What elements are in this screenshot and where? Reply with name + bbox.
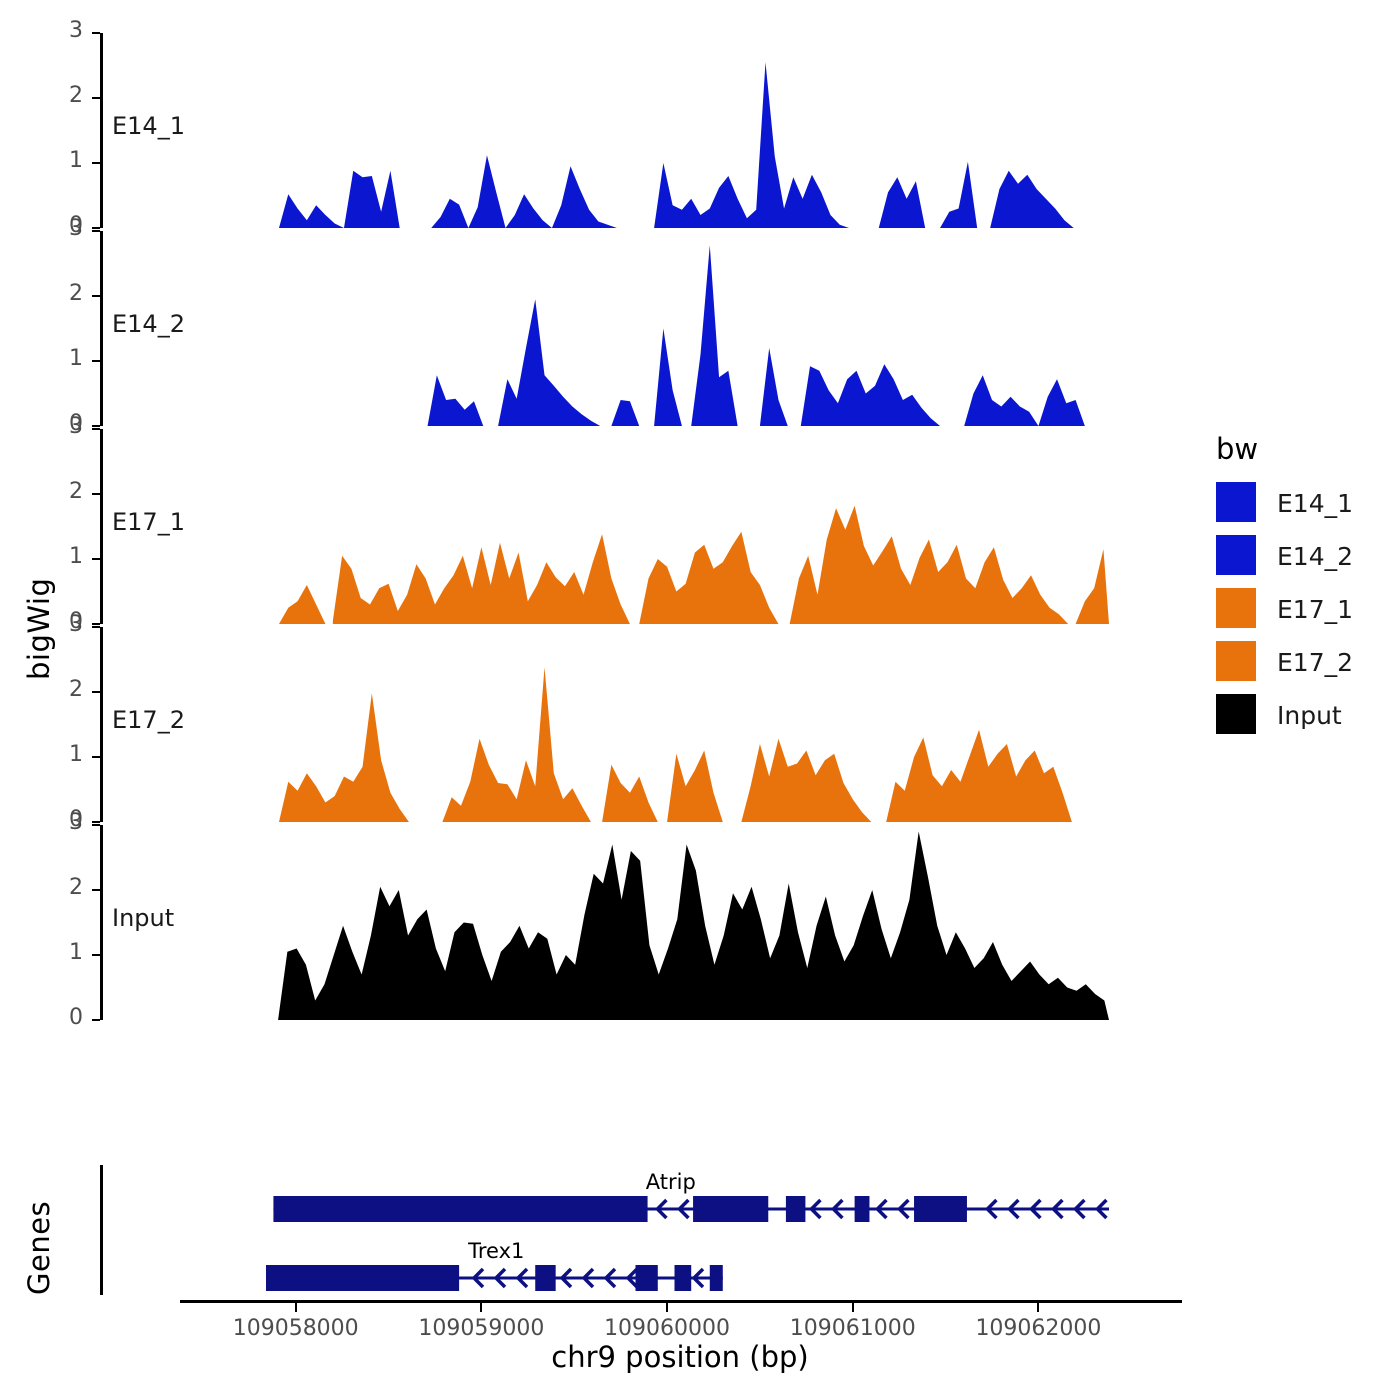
legend-swatch-e14_1[interactable]	[1216, 482, 1256, 522]
y-tick-label: 2	[35, 677, 83, 702]
track-label-e14_1: E14_1	[112, 112, 185, 140]
y-tick-mark	[92, 227, 100, 229]
y-tick-mark	[92, 889, 100, 891]
gene-exon	[693, 1196, 768, 1222]
genes-axis-title: Genes	[22, 1165, 56, 1295]
gene-exon	[855, 1196, 870, 1222]
signal-area	[611, 400, 639, 426]
y-tick-mark	[92, 162, 100, 164]
legend-swatch-e14_2[interactable]	[1216, 535, 1256, 575]
y-tick-mark	[92, 824, 100, 826]
signal-track-e14_1	[240, 33, 1122, 228]
y-axis-line-e17_2	[100, 627, 103, 822]
signal-track-e17_1	[240, 429, 1122, 624]
signal-area	[790, 506, 1069, 624]
track-label-e17_1: E17_1	[112, 508, 185, 536]
y-tick-label: 1	[35, 742, 83, 767]
y-tick-mark	[92, 623, 100, 625]
y-axis-line-input	[100, 825, 103, 1020]
y-tick-mark	[92, 360, 100, 362]
gene-exon	[710, 1265, 723, 1291]
gene-name-label: Trex1	[467, 1239, 524, 1263]
y-tick-label: 2	[35, 83, 83, 108]
track-label-e17_2: E17_2	[112, 706, 185, 734]
y-tick-mark	[92, 558, 100, 560]
gene-exon	[786, 1196, 805, 1222]
signal-area	[279, 585, 325, 624]
x-axis-title: chr9 position (bp)	[240, 1340, 1120, 1374]
signal-area	[667, 751, 723, 823]
y-tick-mark	[92, 626, 100, 628]
signal-track-e17_2	[240, 627, 1122, 822]
signal-area	[741, 739, 871, 822]
signal-area	[279, 693, 409, 822]
signal-area	[279, 171, 400, 228]
y-tick-mark	[92, 691, 100, 693]
y-tick-label: 2	[35, 281, 83, 306]
legend-label-e17_2: E17_2	[1277, 648, 1353, 677]
gene-models: AtripTrex1	[240, 1165, 1142, 1305]
gene-exon	[636, 1265, 658, 1291]
legend-label-e14_2: E14_2	[1277, 542, 1353, 571]
y-tick-mark	[92, 295, 100, 297]
y-tick-label: 3	[35, 612, 83, 637]
signal-area	[333, 534, 630, 624]
y-tick-label: 0	[35, 1005, 83, 1030]
y-tick-mark	[92, 756, 100, 758]
x-axis-line	[180, 1300, 1182, 1303]
genes-axis-line	[100, 1165, 103, 1295]
signal-track-input	[240, 825, 1122, 1020]
signal-area	[801, 364, 940, 426]
y-tick-label: 1	[35, 346, 83, 371]
y-tick-mark	[92, 821, 100, 823]
signal-area	[879, 177, 925, 228]
signal-area	[602, 765, 658, 822]
y-tick-mark	[92, 32, 100, 34]
signal-area	[442, 667, 591, 822]
track-label-e14_2: E14_2	[112, 310, 185, 338]
y-tick-mark	[92, 428, 100, 430]
signal-area	[498, 299, 600, 426]
signal-track-e14_2	[240, 231, 1122, 426]
signal-area	[654, 62, 868, 228]
y-tick-label: 1	[35, 148, 83, 173]
legend-label-e17_1: E17_1	[1277, 595, 1353, 624]
y-tick-label: 1	[35, 544, 83, 569]
signal-area	[654, 329, 682, 427]
track-label-input: Input	[112, 904, 174, 932]
x-tick-mark	[1037, 1303, 1039, 1312]
legend-swatch-e17_2[interactable]	[1216, 641, 1256, 681]
legend-title: bw	[1216, 432, 1258, 466]
signal-area	[940, 162, 977, 228]
gene-exon	[535, 1265, 555, 1291]
y-axis-line-e17_1	[100, 429, 103, 624]
y-tick-mark	[92, 1019, 100, 1021]
y-tick-mark	[92, 230, 100, 232]
legend-swatch-e17_1[interactable]	[1216, 588, 1256, 628]
gene-exon	[675, 1265, 692, 1291]
gene-exon	[266, 1265, 459, 1291]
genome-browser-figure: bigWig Genes chr9 position (bp) 0123E14_…	[0, 0, 1400, 1400]
x-tick-mark	[666, 1303, 668, 1312]
gene-exon	[914, 1196, 967, 1222]
signal-area	[431, 155, 617, 228]
signal-area	[760, 348, 788, 426]
y-axis-line-e14_1	[100, 33, 103, 228]
y-tick-mark	[92, 493, 100, 495]
y-axis-line-e14_2	[100, 231, 103, 426]
signal-area	[886, 730, 1072, 822]
legend-swatch-input[interactable]	[1216, 694, 1256, 734]
x-tick-mark	[852, 1303, 854, 1312]
legend-label-e14_1: E14_1	[1277, 489, 1353, 518]
y-tick-label: 2	[35, 875, 83, 900]
y-tick-mark	[92, 425, 100, 427]
y-tick-mark	[92, 954, 100, 956]
gene-name-label: Atrip	[646, 1170, 696, 1194]
signal-area	[639, 532, 778, 624]
x-tick-mark	[295, 1303, 297, 1312]
signal-area	[691, 245, 737, 426]
signal-area	[428, 375, 484, 426]
signal-area	[990, 171, 1074, 228]
signal-area	[1076, 549, 1109, 624]
y-tick-label: 3	[35, 810, 83, 835]
y-tick-label: 3	[35, 414, 83, 439]
x-tick-label: 109062000	[928, 1316, 1148, 1341]
y-tick-label: 3	[35, 216, 83, 241]
y-tick-mark	[92, 97, 100, 99]
signal-area	[278, 832, 1109, 1021]
y-tick-label: 3	[35, 18, 83, 43]
y-tick-label: 1	[35, 940, 83, 965]
x-tick-mark	[480, 1303, 482, 1312]
legend-label-input: Input	[1277, 701, 1342, 730]
y-tick-label: 2	[35, 479, 83, 504]
gene-exon	[273, 1196, 647, 1222]
signal-area	[964, 375, 1085, 426]
